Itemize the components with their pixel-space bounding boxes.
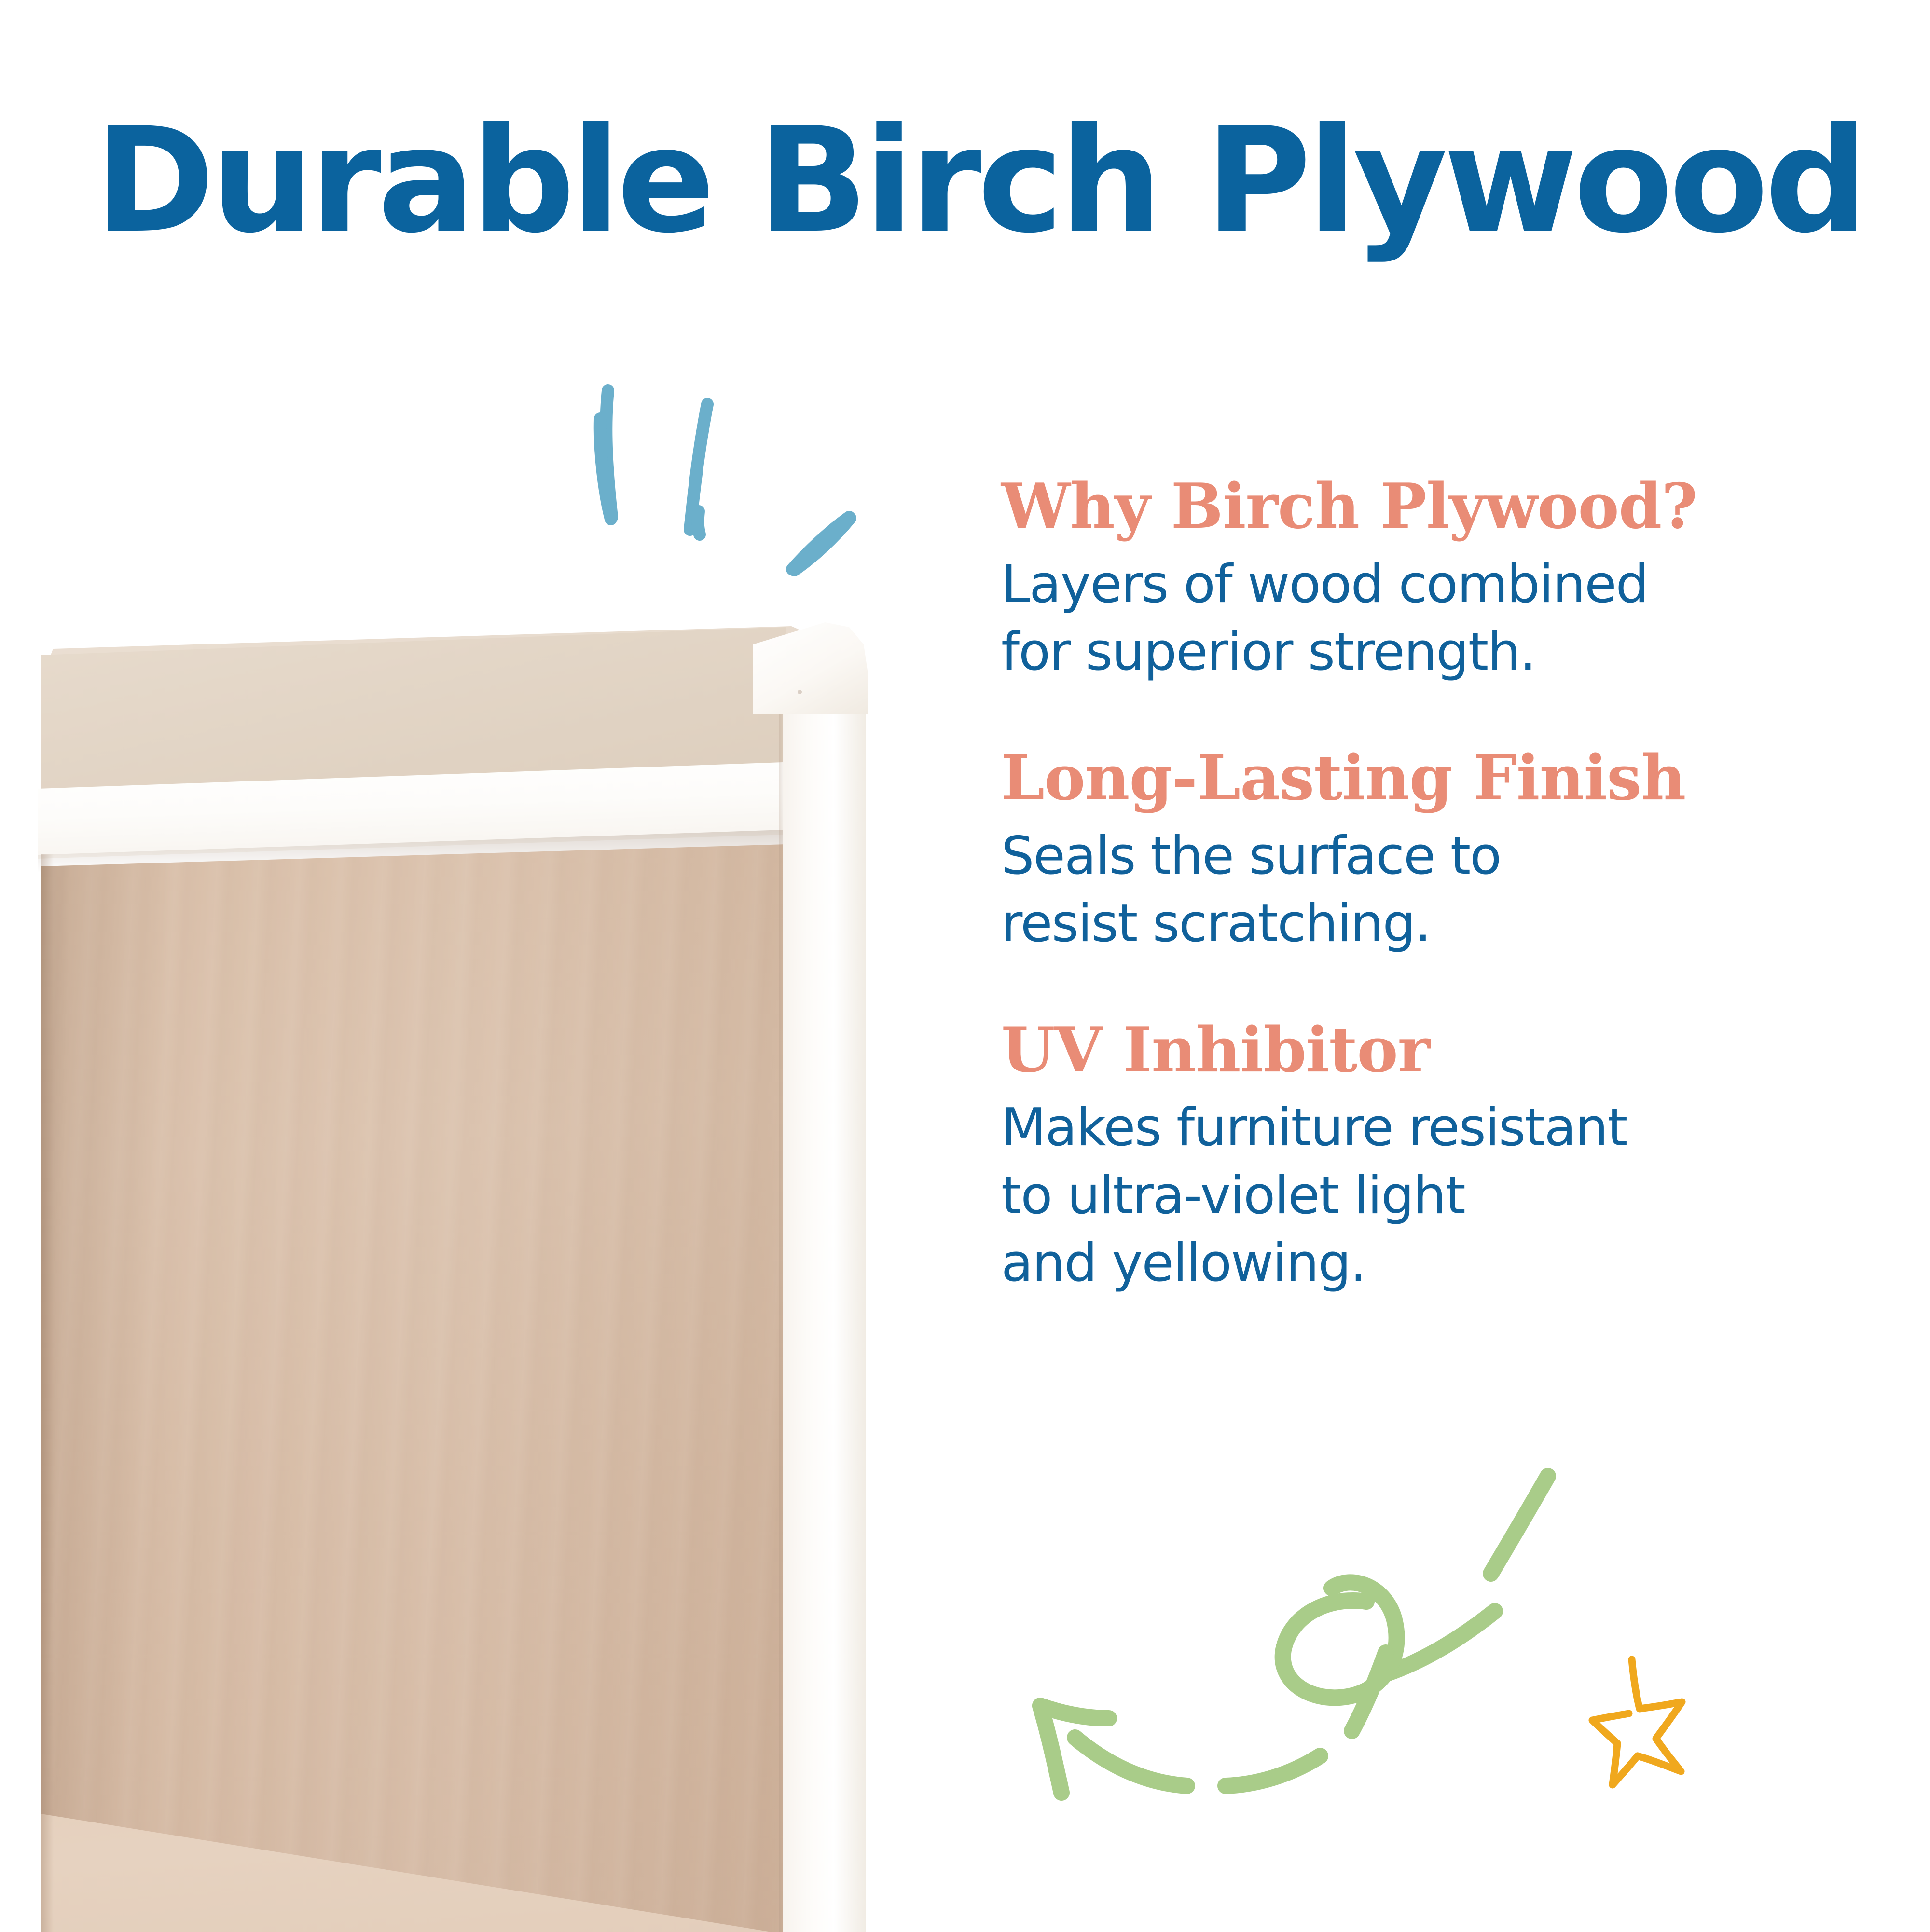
feature-body: Makes furniture resistant to ultra-viole…	[1001, 1094, 1870, 1297]
feature-body: Seals the surface to resist scratching.	[1001, 822, 1870, 958]
curved-dashed-arrow-icon	[994, 1418, 1612, 1823]
infographic-canvas: Durable Birch Plywood	[0, 0, 1930, 1930]
feature-heading: Why Birch Plywood?	[1001, 475, 1870, 538]
feature-heading: Long-Lasting Finish	[1001, 747, 1870, 810]
plywood-shelf-illustration	[0, 463, 873, 1932]
sparkle-lines-icon	[569, 386, 926, 627]
page-title: Durable Birch Plywood	[95, 109, 1851, 253]
outlined-star-icon	[1587, 1640, 1732, 1785]
shelf-left-edge-strip	[41, 854, 54, 1932]
feature-block: Why Birch Plywood? Layers of wood combin…	[1001, 475, 1870, 686]
shelf-white-side-panel	[783, 651, 866, 1932]
shelf-interior-shading	[41, 844, 786, 1932]
product-photo	[0, 463, 873, 1932]
feature-body: Layers of wood combined for superior str…	[1001, 551, 1870, 686]
feature-list: Why Birch Plywood? Layers of wood combin…	[1001, 475, 1870, 1297]
feature-block: UV Inhibitor Makes furniture resistant t…	[1001, 1019, 1870, 1298]
feature-heading: UV Inhibitor	[1001, 1019, 1870, 1082]
feature-block: Long-Lasting Finish Seals the surface to…	[1001, 747, 1870, 958]
shelf-nail-dot	[798, 690, 802, 694]
